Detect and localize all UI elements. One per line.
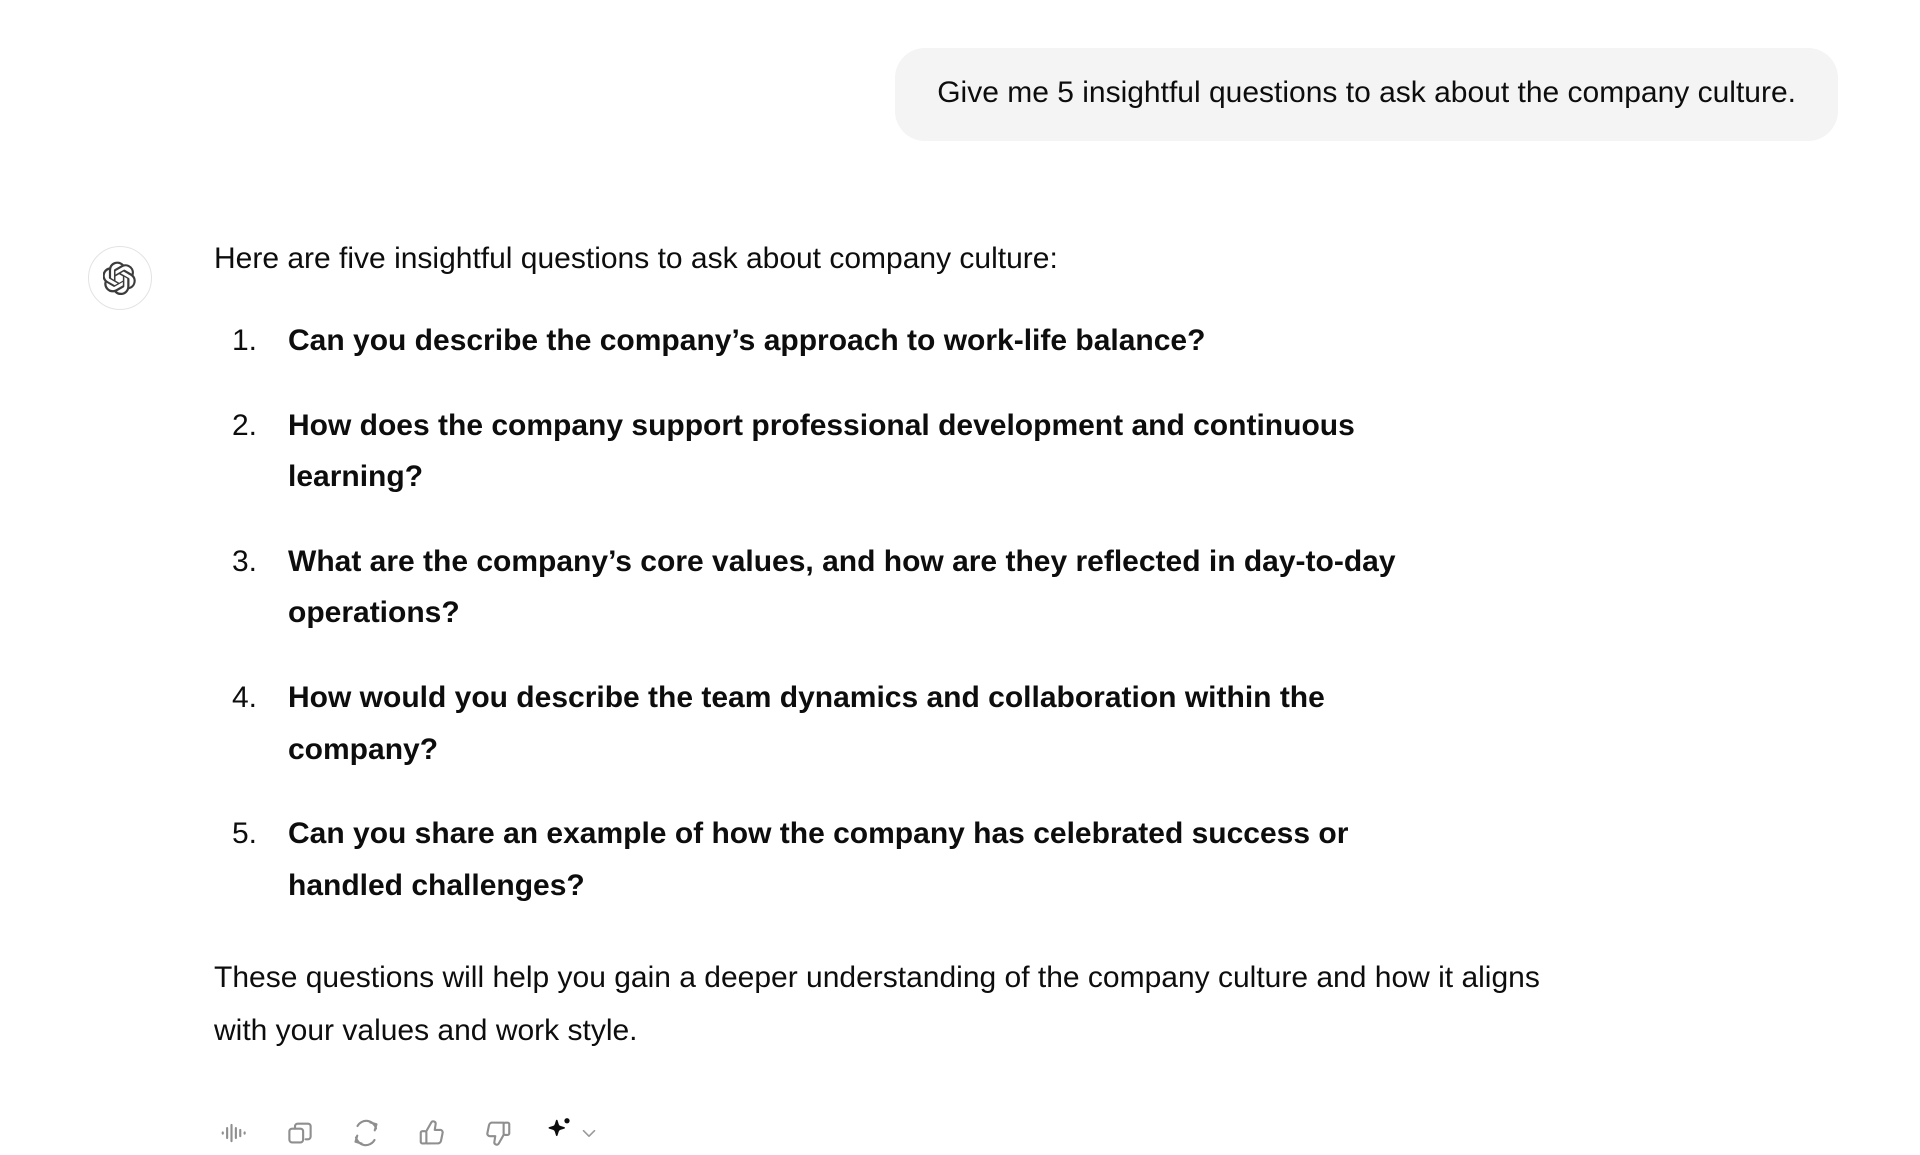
read-aloud-icon [219,1118,249,1148]
list-item-marker: 3. [232,536,257,588]
chevron-down-icon [576,1120,602,1146]
regenerate-button[interactable] [346,1113,386,1153]
assistant-intro-text: Here are five insightful questions to as… [214,236,1874,281]
user-message-bubble: Give me 5 insightful questions to ask ab… [895,48,1838,141]
list-item-text: Can you share an example of how the comp… [288,817,1348,902]
thumbs-up-icon [417,1118,447,1148]
list-item-marker: 1. [232,315,257,367]
message-action-toolbar [214,1111,1874,1155]
openai-logo-icon [103,261,137,295]
assistant-message-content: Here are five insightful questions to as… [214,236,1874,1155]
thumbs-down-button[interactable] [478,1113,518,1153]
list-item-text: Can you describe the company’s approach … [288,324,1205,357]
list-item: 5. Can you share an example of how the c… [214,808,1404,911]
list-item-text: How does the company support professiona… [288,409,1355,494]
user-message-row: Give me 5 insightful questions to ask ab… [0,0,1920,141]
list-item-marker: 2. [232,400,257,452]
conversation-thread: Give me 5 insightful questions to ask ab… [0,0,1920,1129]
list-item: 4. How would you describe the team dynam… [214,672,1414,775]
assistant-message-row: Here are five insightful questions to as… [0,236,1920,1155]
list-item-marker: 4. [232,672,257,724]
list-item-text: What are the company’s core values, and … [288,545,1396,630]
assistant-avatar [88,246,152,310]
assistant-outro-text: These questions will help you gain a dee… [214,952,1549,1056]
copy-button[interactable] [280,1113,320,1153]
regenerate-icon [351,1118,381,1148]
list-item: 2. How does the company support professi… [214,400,1414,503]
user-message-text: Give me 5 insightful questions to ask ab… [937,71,1796,115]
list-item-marker: 5. [232,808,257,860]
switch-model-button[interactable] [544,1115,602,1150]
read-aloud-button[interactable] [214,1113,254,1153]
thumbs-down-icon [483,1118,513,1148]
thumbs-up-button[interactable] [412,1113,452,1153]
list-item: 1. Can you describe the company’s approa… [214,315,1414,367]
copy-icon [285,1118,315,1148]
list-item: 3. What are the company’s core values, a… [214,536,1414,639]
question-list: 1. Can you describe the company’s approa… [214,315,1874,911]
list-item-text: How would you describe the team dynamics… [288,681,1325,766]
sparkle-icon [544,1115,574,1150]
